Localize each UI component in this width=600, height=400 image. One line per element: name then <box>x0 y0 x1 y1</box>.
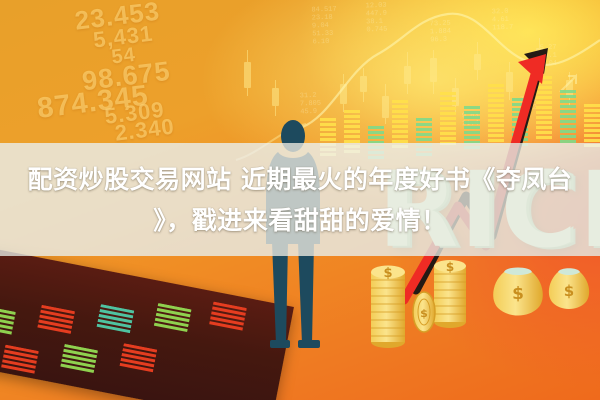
money-bag-2: $ <box>549 268 589 309</box>
svg-text:$: $ <box>383 266 392 281</box>
headline-line-2: 》，戳进来看甜甜的爱情！ <box>153 200 447 241</box>
svg-text:$: $ <box>564 282 574 300</box>
promo-banner: 84.517 23.18 9.04 51.33 6.1012.03 447.9 … <box>0 0 600 400</box>
money-bag-1: $ <box>493 268 543 316</box>
svg-text:$: $ <box>446 260 454 274</box>
svg-text:$: $ <box>420 307 428 320</box>
loose-coin: $ <box>413 292 435 332</box>
coin-stack-2: $ <box>434 260 466 328</box>
coin-stack-1: $ <box>371 266 405 349</box>
svg-text:$: $ <box>512 284 524 304</box>
headline-line-1: 配资炒股交易网站 近期最火的年度好书《夺凤台 <box>28 159 573 200</box>
headline-text: 配资炒股交易网站 近期最火的年度好书《夺凤台 》，戳进来看甜甜的爱情！ <box>0 143 600 256</box>
